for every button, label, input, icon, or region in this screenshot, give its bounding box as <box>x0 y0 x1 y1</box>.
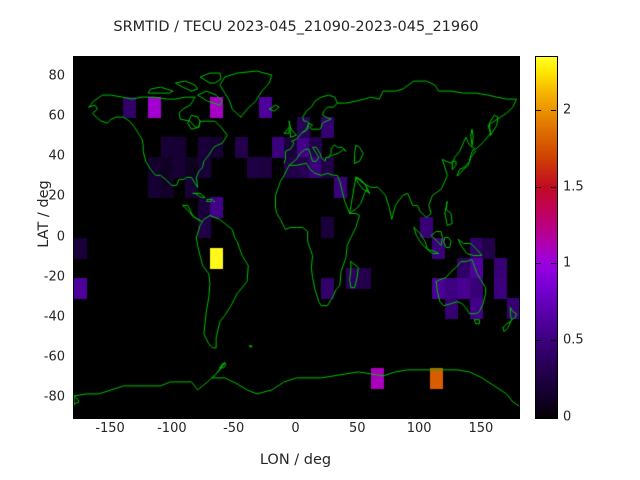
colorbar-tickmark-0-left <box>536 417 541 418</box>
colorbar-tickmark-4-right <box>551 110 556 111</box>
colorbar-tickmark-2-right <box>551 263 556 264</box>
y-axis-label: LAT / deg <box>36 89 52 339</box>
colorbar-tick-1: 0.5 <box>563 333 584 348</box>
x-tick-6: 150 <box>468 421 493 436</box>
y-tick-8: -80 <box>44 389 65 404</box>
colorbar-tickmark-2-left <box>536 263 541 264</box>
colorbar-tickmark-1-right <box>551 340 556 341</box>
y-tick-0: 80 <box>48 69 65 84</box>
colorbar-tickmark-1-left <box>536 340 541 341</box>
colorbar-tick-0: 0 <box>563 410 571 425</box>
x-tick-5: 100 <box>407 421 432 436</box>
figure-canvas: SRMTID / TECU 2023-045_21090-2023-045_21… <box>0 0 640 480</box>
x-tick-3: 0 <box>291 421 299 436</box>
x-tick-4: 50 <box>349 421 366 436</box>
chart-title: SRMTID / TECU 2023-045_21090-2023-045_21… <box>0 19 592 35</box>
x-tick-0: -150 <box>95 421 125 436</box>
x-axis-label: LON / deg <box>73 452 518 468</box>
colorbar-tick-4: 2 <box>563 102 571 117</box>
heatmap-canvas <box>74 57 519 418</box>
colorbar-tickmark-0-right <box>551 417 556 418</box>
colorbar-tickmark-3-left <box>536 187 541 188</box>
map-axes[interactable] <box>73 56 520 419</box>
colorbar-tick-2: 1 <box>563 256 571 271</box>
y-tick-4: 0 <box>57 229 65 244</box>
y-tick-7: -60 <box>44 349 65 364</box>
colorbar-tick-3: 1.5 <box>563 179 584 194</box>
x-tick-1: -100 <box>157 421 187 436</box>
colorbar-tickmark-4-left <box>536 110 541 111</box>
colorbar-tickmark-3-right <box>551 187 556 188</box>
x-tick-2: -50 <box>223 421 244 436</box>
